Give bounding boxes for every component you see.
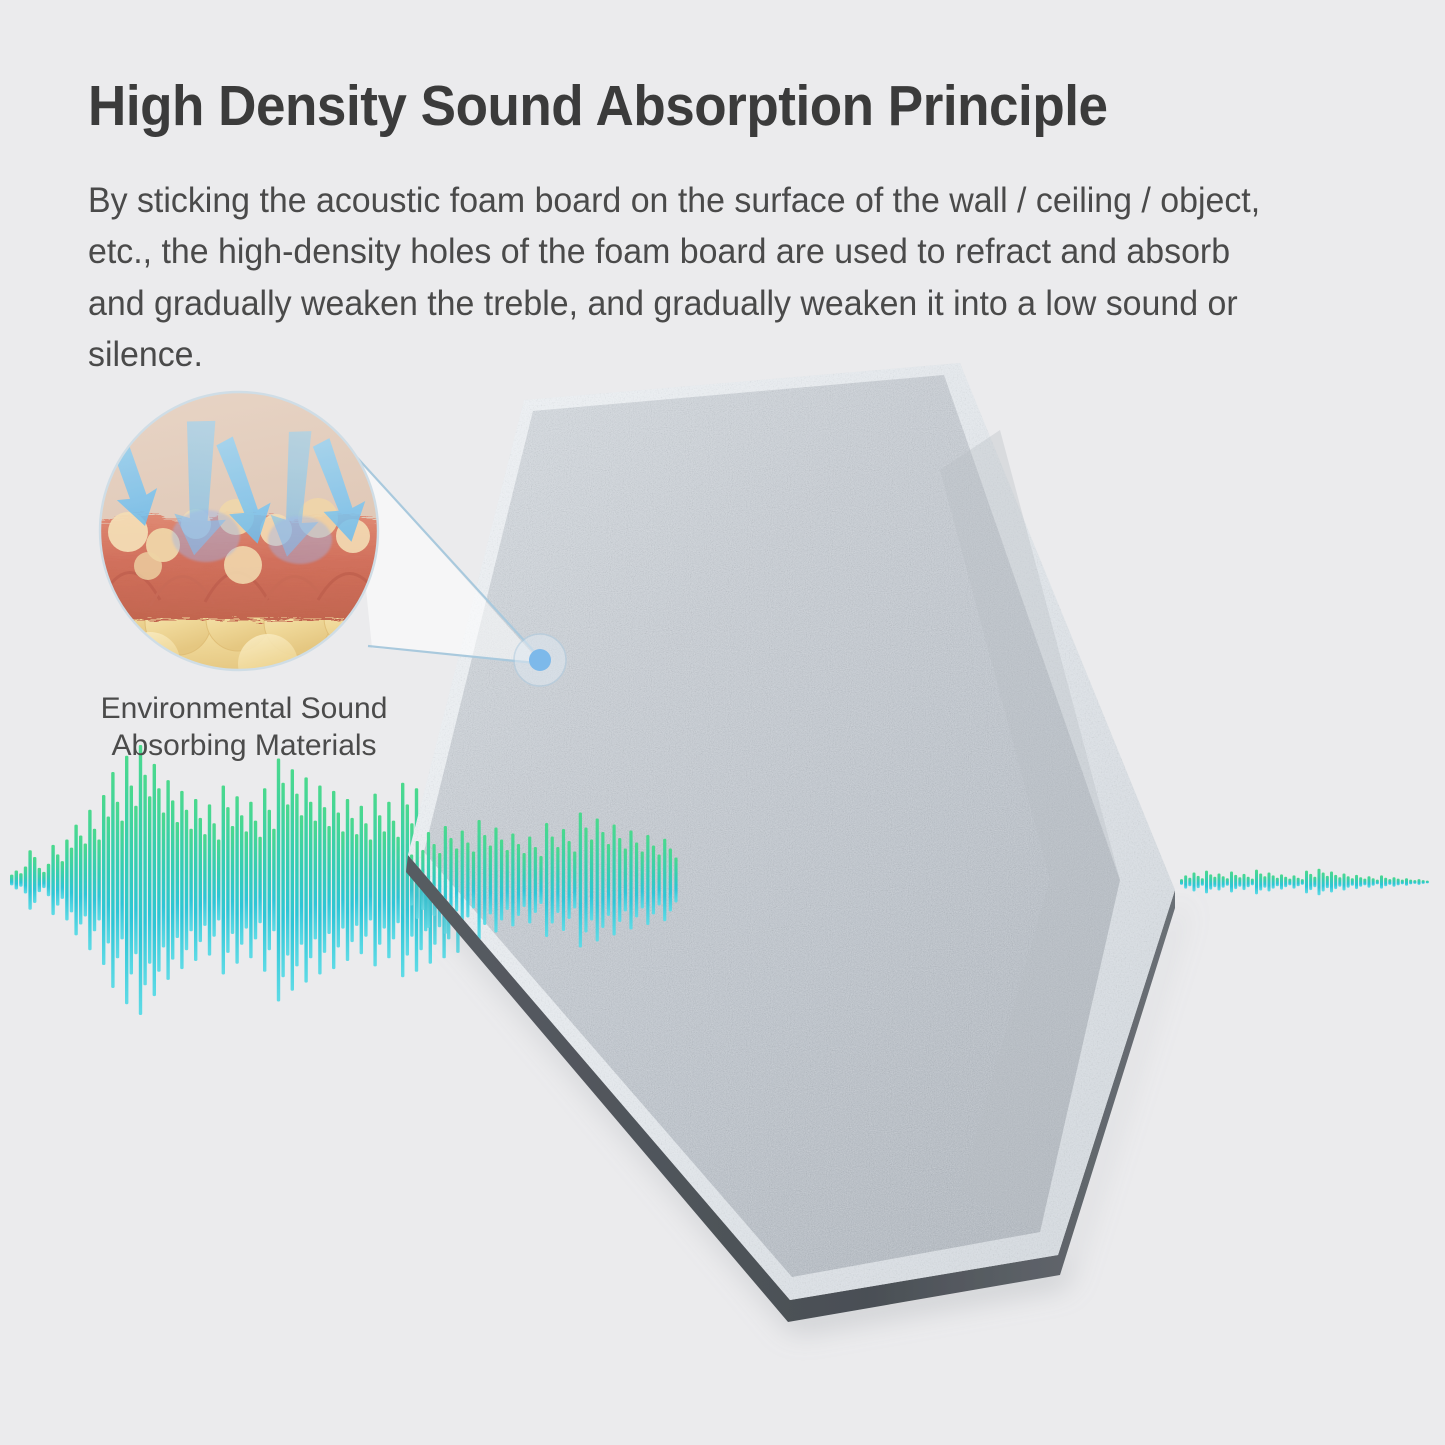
inset-content — [89, 385, 400, 694]
magnifier-inset[interactable] — [0, 0, 1445, 1445]
infographic-canvas: High Density Sound Absorption Principle … — [0, 0, 1445, 1445]
